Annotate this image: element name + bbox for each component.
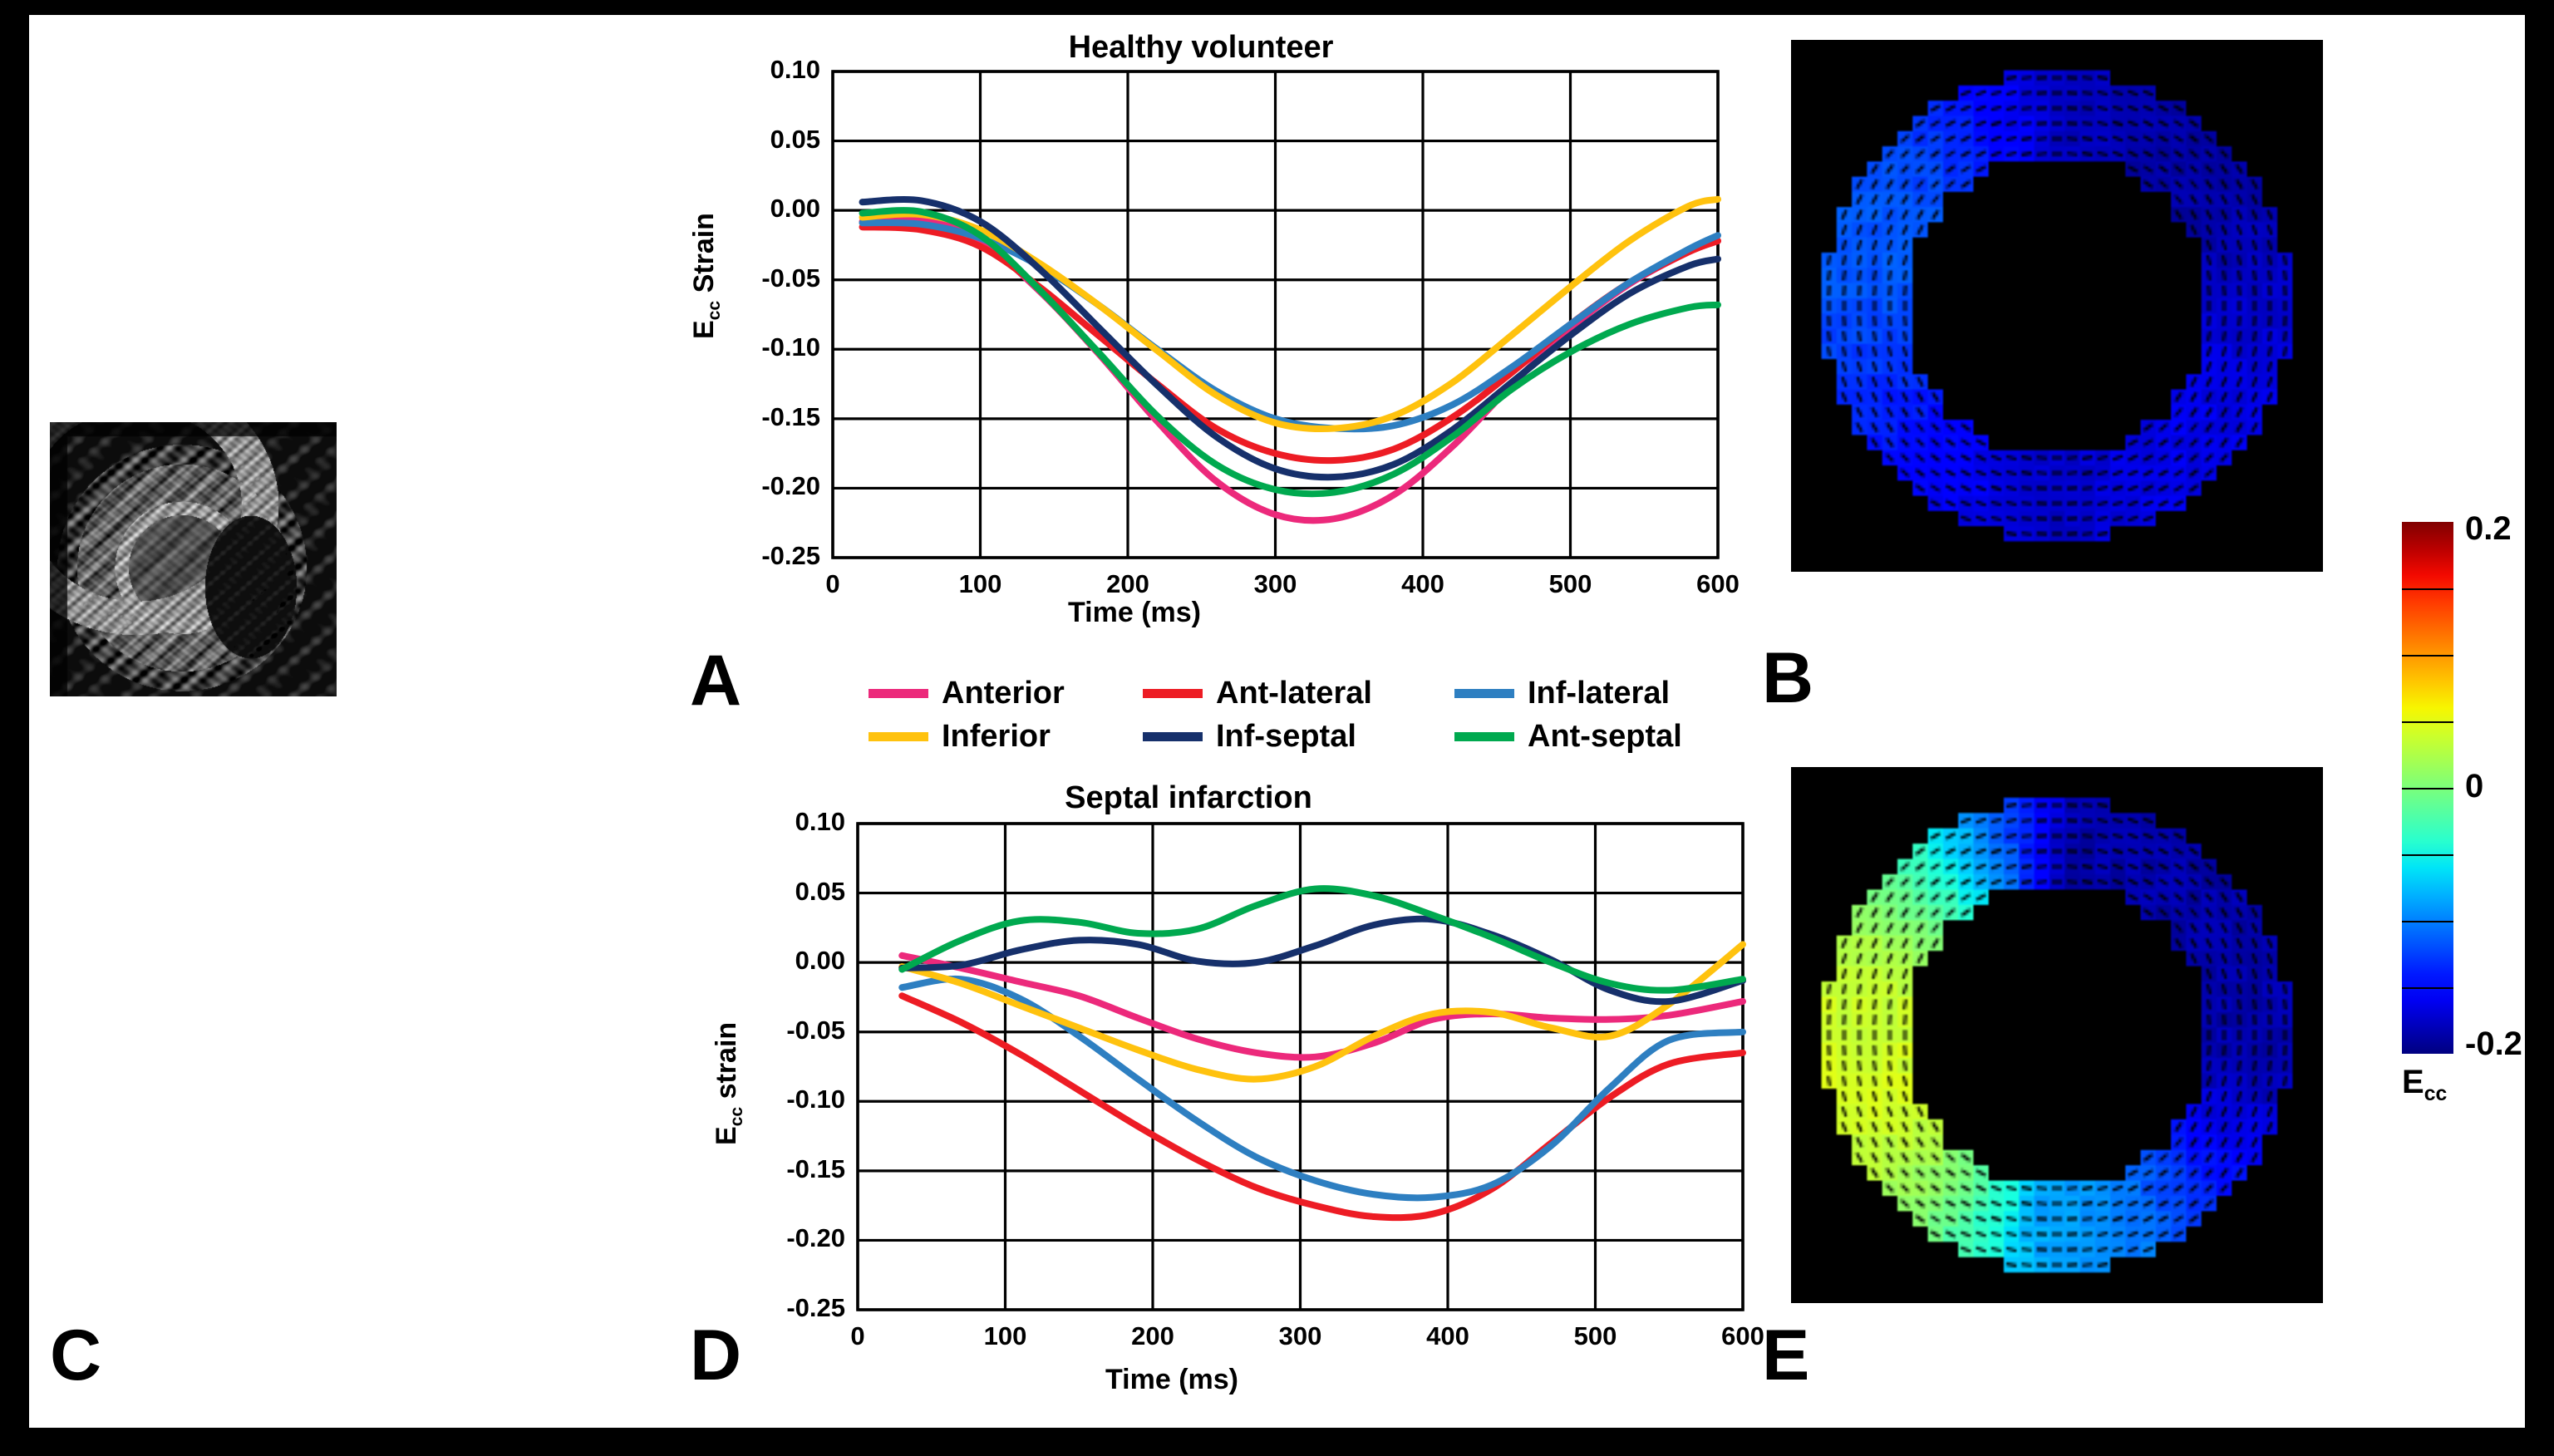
legend-item-anterior: Anterior	[869, 676, 1065, 711]
figure-canvas: Healthy volunteer Ecc Strain 0.100.050.0…	[29, 15, 2525, 1428]
panel-e-strain-map-infarct	[1791, 767, 2323, 1303]
ecc-colorbar: 0.2 0 -0.2 Ecc	[2402, 522, 2522, 1112]
series-legend: AnteriorAnt-lateralInf-lateralInferiorIn…	[869, 676, 1700, 755]
panel-d-septal-infarction-chart: Septal infarction Ecc strain 0.100.050.0…	[640, 767, 1804, 1428]
colorbar-tick	[2402, 655, 2453, 657]
x-axis-label-healthy: Time (ms)	[573, 597, 1695, 629]
figure-root: Healthy volunteer Ecc Strain 0.100.050.0…	[0, 0, 2554, 1456]
colorbar-tick	[2402, 588, 2453, 590]
panel-letter-e: E	[1762, 1320, 1809, 1391]
legend-item-ant-septal: Ant-septal	[1454, 719, 1682, 755]
colorbar-tick	[2402, 788, 2453, 789]
panel-letter-d: D	[690, 1320, 741, 1391]
panel-letter-c: C	[50, 1320, 101, 1391]
legend-swatch-inferior	[869, 732, 928, 741]
colorbar-title-main: E	[2402, 1064, 2424, 1100]
colorbar-title-sub: cc	[2424, 1083, 2448, 1105]
panel-a-healthy-volunteer-chart: Healthy volunteer Ecc Strain 0.100.050.0…	[640, 15, 1762, 671]
colorbar-title: Ecc	[2402, 1064, 2447, 1106]
legend-item-ant-lateral: Ant-lateral	[1143, 676, 1372, 711]
plot-area-septal	[640, 767, 1804, 1428]
colorbar-label-min: -0.2	[2465, 1026, 2522, 1063]
colorbar-tick	[2402, 854, 2453, 856]
colorbar-tick	[2402, 987, 2453, 989]
legend-label-ant-septal: Ant-septal	[1528, 719, 1682, 755]
colorbar-label-mid: 0	[2465, 768, 2483, 805]
panel-c-lge-mri-image	[50, 422, 337, 696]
legend-swatch-ant-septal	[1454, 732, 1514, 741]
legend-item-inferior: Inferior	[869, 719, 1051, 755]
series-line-ant-septal	[902, 888, 1743, 991]
panel-letter-b: B	[1762, 642, 1813, 714]
legend-swatch-anterior	[869, 689, 928, 698]
panel-b-strain-map-healthy	[1791, 40, 2323, 572]
legend-swatch-inf-lateral	[1454, 689, 1514, 698]
legend-item-inf-septal: Inf-septal	[1143, 719, 1356, 755]
plot-area-healthy	[640, 15, 1762, 671]
legend-label-inf-septal: Inf-septal	[1216, 719, 1356, 755]
legend-label-inferior: Inferior	[942, 719, 1051, 755]
panel-letter-a: A	[690, 645, 741, 716]
legend-label-inf-lateral: Inf-lateral	[1528, 676, 1670, 711]
legend-label-anterior: Anterior	[942, 676, 1065, 711]
legend-swatch-ant-lateral	[1143, 689, 1203, 698]
legend-label-ant-lateral: Ant-lateral	[1216, 676, 1372, 711]
legend-swatch-inf-septal	[1143, 732, 1203, 741]
series-line-inf-septal	[902, 919, 1743, 1002]
legend-item-inf-lateral: Inf-lateral	[1454, 676, 1670, 711]
colorbar-label-max: 0.2	[2465, 510, 2512, 548]
colorbar-tick	[2402, 921, 2453, 922]
x-axis-label-septal: Time (ms)	[590, 1364, 1754, 1396]
colorbar-tick	[2402, 721, 2453, 723]
